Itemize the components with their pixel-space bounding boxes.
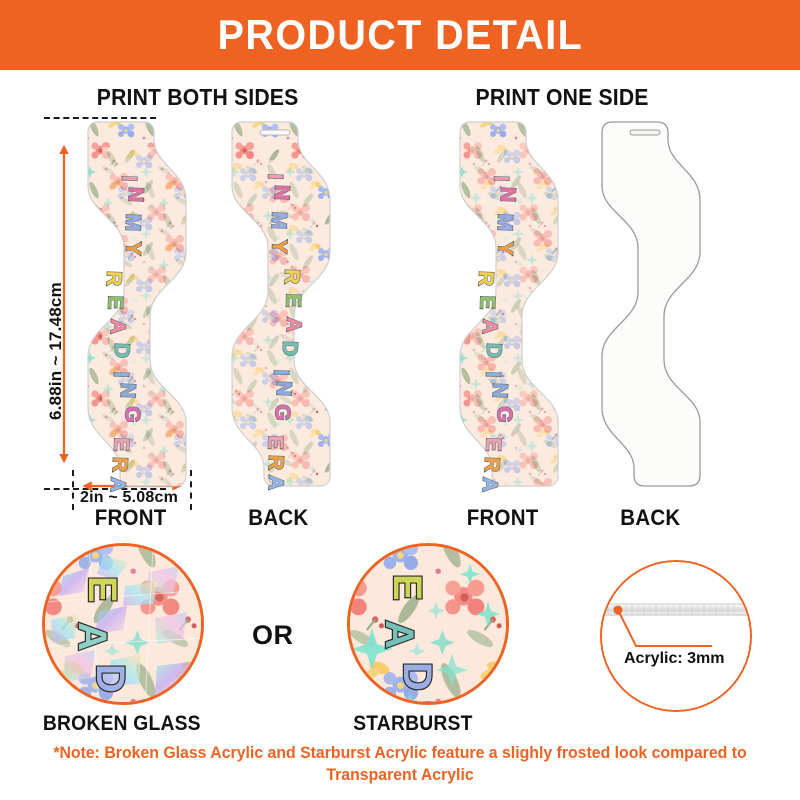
svg-text:D: D xyxy=(395,662,439,691)
svg-text:A: A xyxy=(70,622,114,651)
height-dimension-label: 6.88in ~ 17.48cm xyxy=(46,282,66,420)
acrylic-sheet-edge xyxy=(602,604,752,615)
svg-text:A: A xyxy=(377,620,421,649)
acrylic-edge-diagram xyxy=(602,562,752,712)
finish-label-broken-glass: BROKEN GLASS xyxy=(43,712,201,736)
svg-text:E: E xyxy=(385,574,429,601)
hanging-slot xyxy=(630,130,660,135)
bookmark-caption-one-back: BACK xyxy=(620,505,680,531)
svg-text:E: E xyxy=(80,576,124,603)
starburst-artwork: E A D I xyxy=(350,546,509,705)
product-detail-infographic: PRODUCT DETAIL PRINT BOTH SIDES PRINT ON… xyxy=(0,0,800,800)
bookmark-shape-printed xyxy=(228,116,338,491)
acrylic-thickness-callout: Acrylic: 3mm xyxy=(600,560,752,712)
finish-sample-starburst: E A D I xyxy=(347,543,509,705)
bookmark-one-front: I N M Y R E A D I N G E R A xyxy=(456,116,566,491)
bookmark-caption-both-front: FRONT xyxy=(95,505,167,531)
bookmark-shape-printed xyxy=(456,116,566,491)
svg-text:I: I xyxy=(96,702,140,705)
bookmark-shape-blank xyxy=(598,116,708,491)
bookmark-shape-printed xyxy=(84,116,194,491)
hanging-slot xyxy=(260,130,290,135)
bookmark-both-back: I N M Y R E A D I N G E R A xyxy=(228,116,338,491)
section-heading-print-both-sides: PRINT BOTH SIDES xyxy=(97,84,299,111)
svg-text:I: I xyxy=(403,700,447,705)
bookmark-one-back xyxy=(598,116,708,491)
bookmark-both-front: I N M Y R E A D I N G E R A xyxy=(84,116,194,491)
finish-sample-broken-glass: E A D I xyxy=(42,543,204,705)
bookmark-caption-one-front: FRONT xyxy=(467,505,539,531)
header-banner: PRODUCT DETAIL xyxy=(0,0,800,70)
page-title: PRODUCT DETAIL xyxy=(217,11,583,59)
footnote-text: *Note: Broken Glass Acrylic and Starburs… xyxy=(16,742,784,787)
bookmark-caption-both-back: BACK xyxy=(248,505,308,531)
acrylic-thickness-label: Acrylic: 3mm xyxy=(624,650,725,668)
section-heading-print-one-side: PRINT ONE SIDE xyxy=(476,84,649,111)
broken-glass-artwork: E A D I xyxy=(45,546,204,705)
finish-label-starburst: STARBURST xyxy=(353,712,472,736)
svg-text:D: D xyxy=(88,664,132,693)
or-separator-label: OR xyxy=(252,620,294,651)
